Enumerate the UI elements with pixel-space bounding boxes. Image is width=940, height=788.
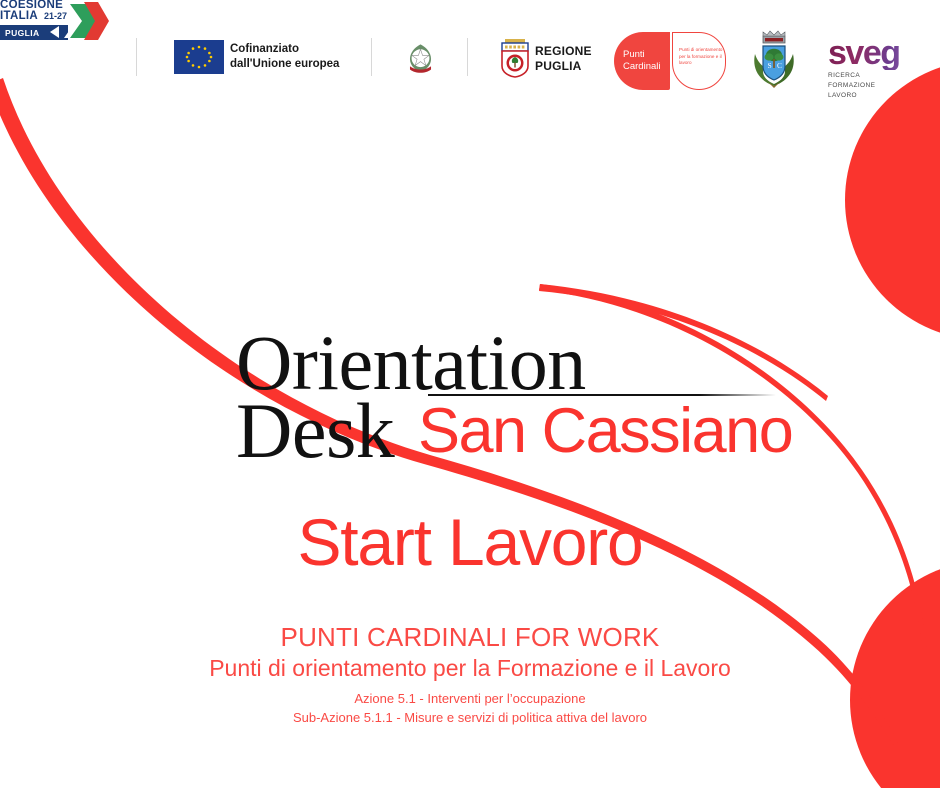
logo-sveg: sveg RICERCA FORMAZIONE LAVORO <box>828 36 926 88</box>
logo-regione-puglia-text: REGIONE PUGLIA <box>535 44 592 74</box>
punti-cardinali-left-label: Punti Cardinali <box>623 49 661 73</box>
sveg-wordmark: sveg <box>828 36 926 70</box>
note-azione: Azione 5.1 - Interventi per l’occupazion… <box>0 691 940 706</box>
logo-repubblica-italiana-icon <box>404 42 437 76</box>
coesione-arrow-icon <box>50 26 59 38</box>
headline-start-lavoro: Start Lavoro <box>0 508 940 578</box>
regione-line1: REGIONE <box>535 44 592 59</box>
sveg-subtitle: RICERCA FORMAZIONE LAVORO <box>828 71 926 100</box>
logo-eu-text: Cofinanziato dall'Unione europea <box>230 42 339 72</box>
logo-regione-puglia-icon <box>500 38 530 78</box>
eu-stars-icon <box>174 40 224 74</box>
partner-logo-bar: COESIONE ITALIA 21-27 PUGLIA <box>0 0 940 100</box>
sveg-sub1: RICERCA <box>828 71 926 81</box>
title-line-san-cassiano: San Cassiano <box>418 400 792 463</box>
pc-left-line1: Punti <box>623 49 661 61</box>
logo-punti-cardinali: Punti Cardinali Punti di orientamento pe… <box>614 32 726 90</box>
svg-text:S: S <box>768 61 772 70</box>
title-line-desk: Desk <box>236 395 394 468</box>
logo-coesione-italia: COESIONE ITALIA 21-27 PUGLIA <box>0 0 108 42</box>
note-sub-azione: Sub-Azione 5.1.1 - Misure e servizi di p… <box>0 710 940 725</box>
sveg-sub3: LAVORO <box>828 91 926 101</box>
logo-eu-flag <box>174 40 224 74</box>
coesione-flag-chevrons-icon <box>62 0 110 42</box>
coesione-region-label: PUGLIA <box>5 28 40 38</box>
eu-line2: dall'Unione europea <box>230 57 339 72</box>
red-swoosh-curve-upper <box>539 284 928 664</box>
red-circle-top-right <box>845 60 940 340</box>
subtitle-punti-orientamento: Punti di orientamento per la Formazione … <box>0 655 940 682</box>
punti-cardinali-right-label: Punti di orientamento per la formazione … <box>679 47 723 67</box>
subtitle-punti-cardinali-for-work: PUNTI CARDINALI FOR WORK <box>0 622 940 653</box>
punti-cardinali-left-shape: Punti Cardinali <box>614 32 670 90</box>
regione-line2: PUGLIA <box>535 59 592 74</box>
logo-divider-1 <box>136 38 137 76</box>
sveg-sub2: FORMAZIONE <box>828 81 926 91</box>
coesione-line2: ITALIA <box>0 11 38 23</box>
logo-divider-2 <box>371 38 372 76</box>
logo-comune-san-cassiano-icon: S C <box>746 30 802 90</box>
eu-line1: Cofinanziato <box>230 42 339 57</box>
punti-cardinali-right-shape: Punti di orientamento per la formazione … <box>672 32 726 90</box>
logo-divider-3 <box>467 38 468 76</box>
poster-canvas: COESIONE ITALIA 21-27 PUGLIA <box>0 0 940 788</box>
pc-left-line2: Cardinali <box>623 61 661 73</box>
svg-text:C: C <box>777 61 782 70</box>
